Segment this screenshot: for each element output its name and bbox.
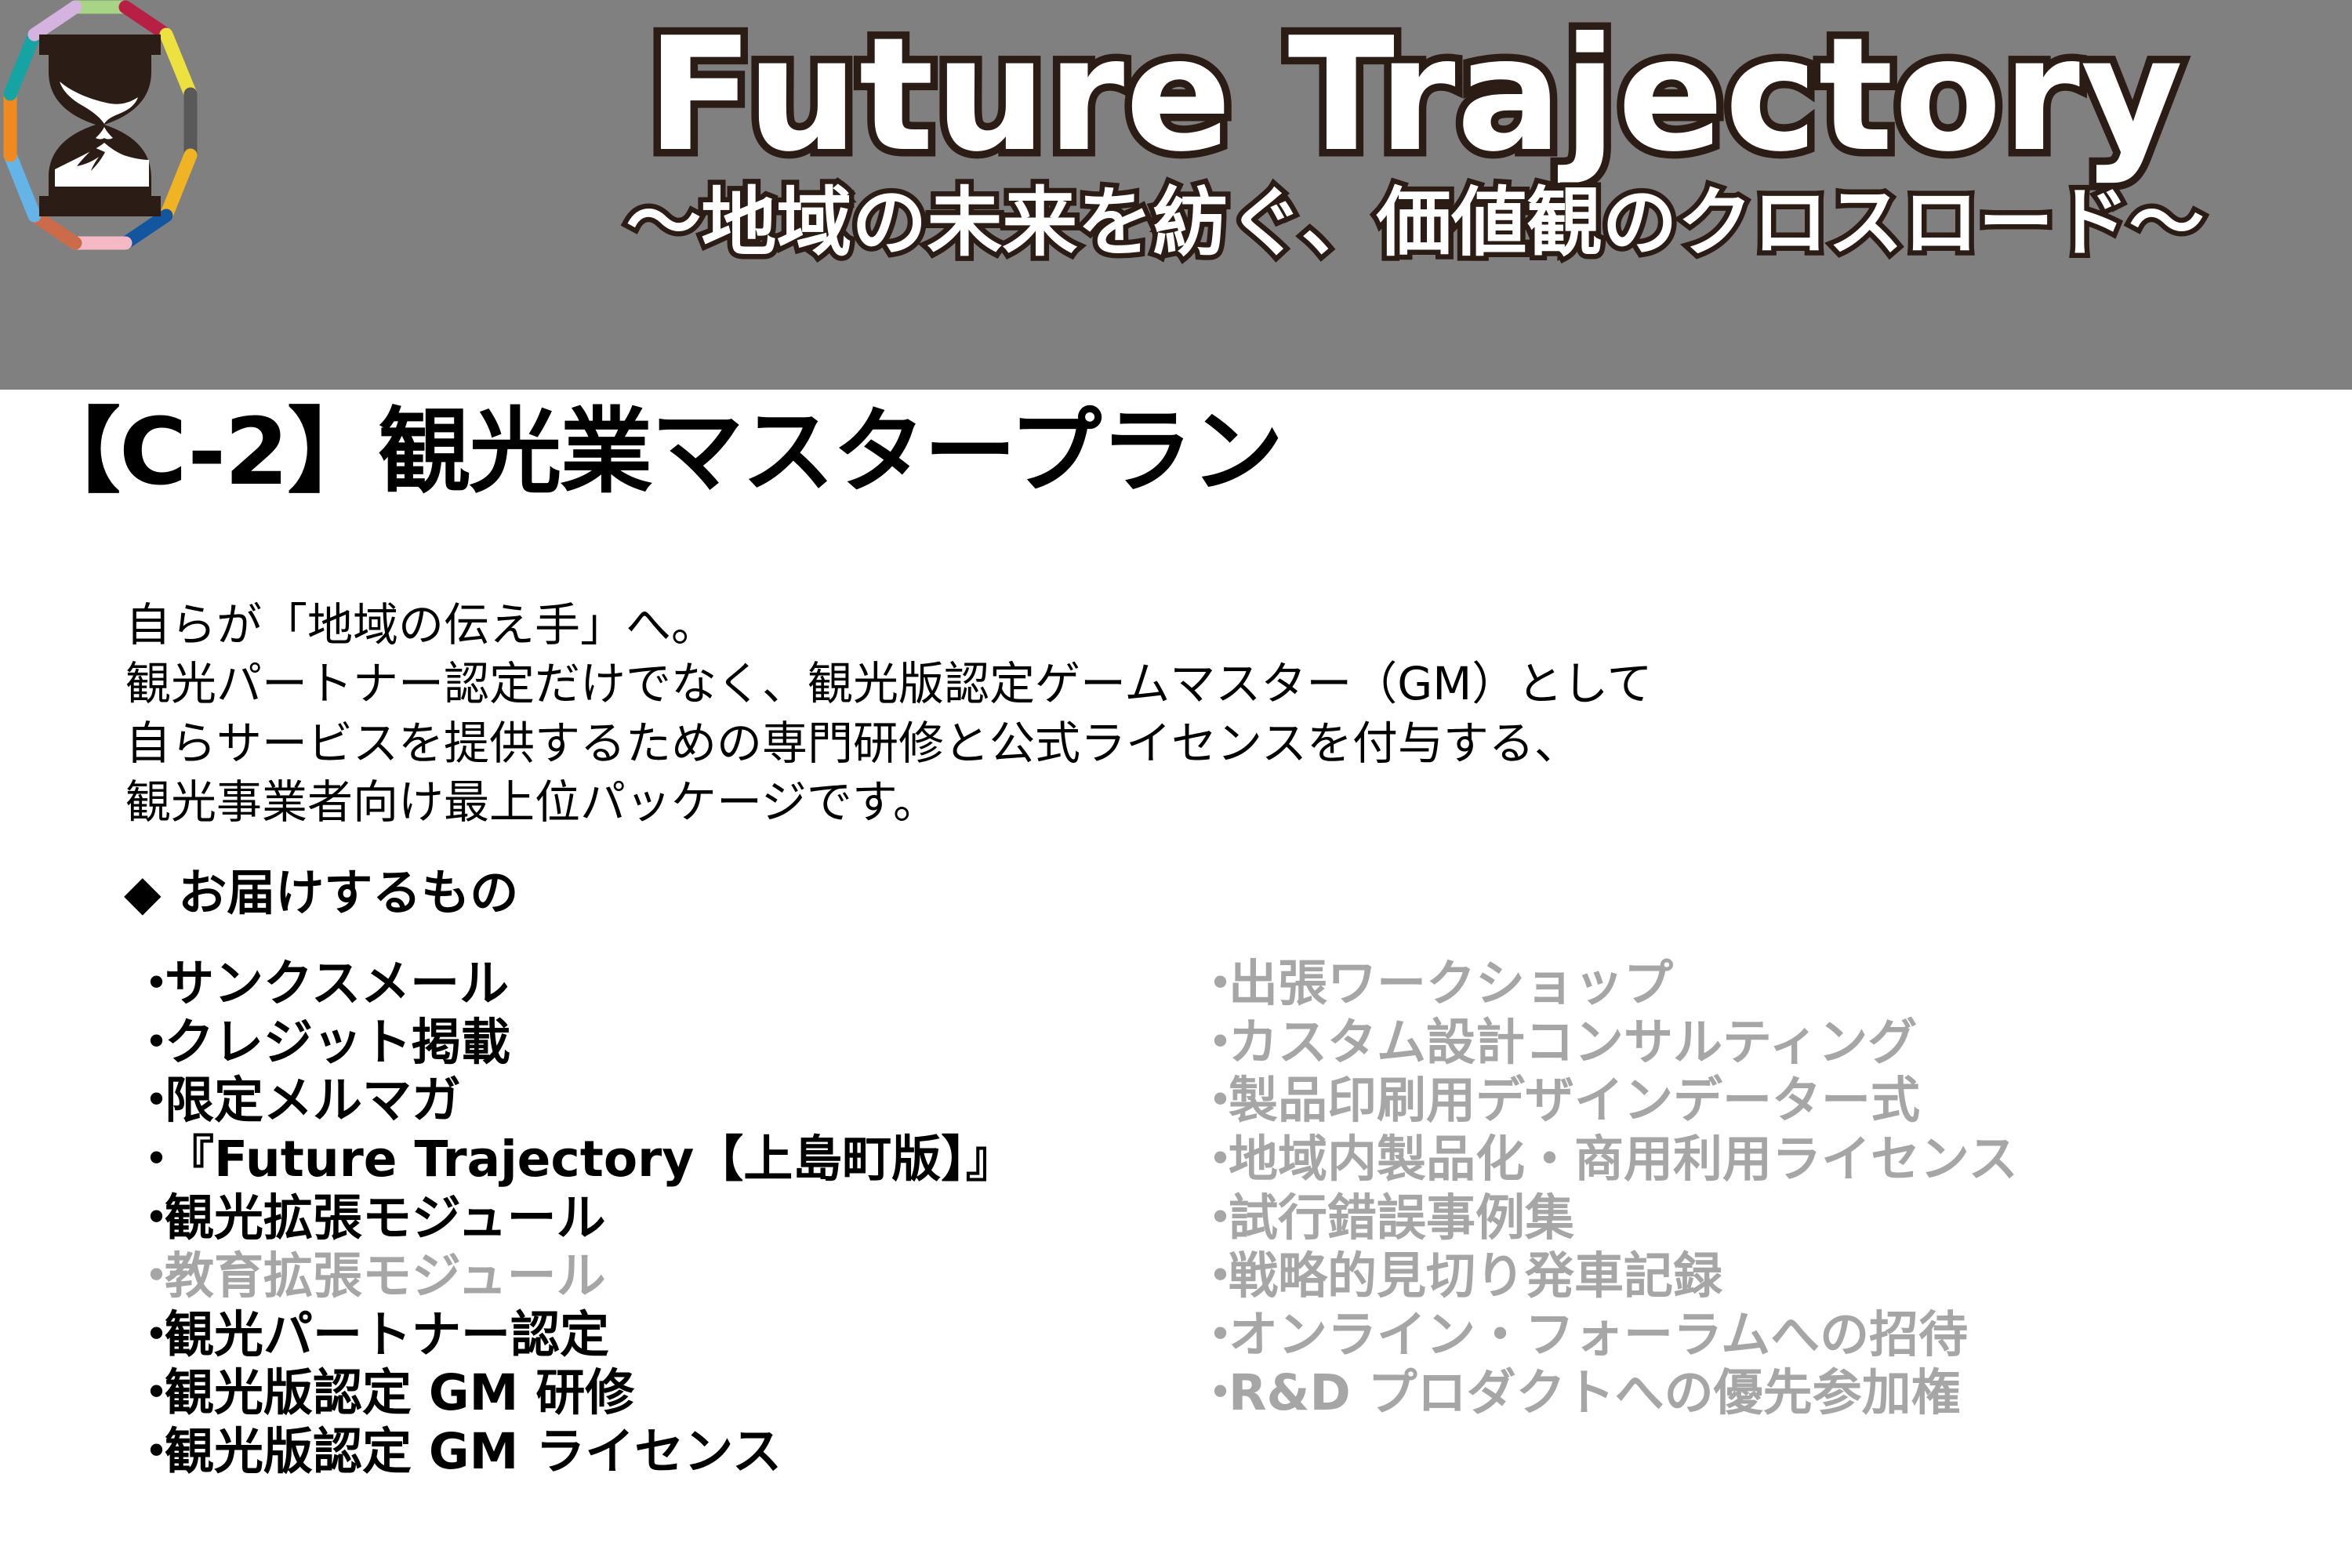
deliverable-item: ・地域内製品化・商用利用ライセンス: [1196, 1131, 2332, 1189]
deliverable-item: ・出張ワークショップ: [1196, 955, 2332, 1014]
bullet-dot-icon: ・: [132, 1247, 165, 1306]
bullet-dot-icon: ・: [132, 1189, 165, 1248]
deliverable-item: ・戦略的見切り発車記録: [1196, 1247, 2332, 1306]
deliverable-label: 戦略的見切り発車記録: [1229, 1247, 1722, 1305]
deliverable-item: ・オンライン・フォーラムへの招待: [1196, 1306, 2332, 1365]
deliverable-label: 地域内製品化・商用利用ライセンス: [1229, 1131, 2018, 1188]
deliverable-label: 観光版認定 GM 研修: [165, 1364, 634, 1421]
deliverable-item: ・観光版認定 GM ライセンス: [132, 1423, 1214, 1482]
lede-line: 観光事業者向け最上位パッケージです。: [125, 773, 2242, 832]
lede-line: 観光パートナー認定だけでなく、観光版認定ゲームマスター（GM）として: [125, 655, 2242, 713]
deliverable-label: サンクスメール: [165, 955, 509, 1012]
bullet-dot-icon: ・: [1196, 1306, 1229, 1365]
deliverable-item: ・限定メルマガ: [132, 1072, 1214, 1131]
header-band: Future Trajectory 〜地域の未来を紡ぐ、価値観のクロスロード〜: [0, 0, 2352, 390]
lede-line: 自らが「地域の伝え手」へ。: [125, 596, 2242, 655]
deliverable-label: オンライン・フォーラムへの招待: [1229, 1306, 1968, 1363]
bullet-dot-icon: ・: [1196, 1189, 1229, 1248]
deliverable-item: ・観光版認定 GM 研修: [132, 1364, 1214, 1423]
bullet-dot-icon: ・: [132, 1131, 165, 1189]
lede-line: 自らサービスを提供するための専門研修と公式ライセンスを付与する、: [125, 714, 2242, 773]
deliverable-label: 限定メルマガ: [165, 1072, 461, 1129]
deliverable-label: 観光パートナー認定: [165, 1306, 609, 1363]
deliverable-item: ・教育拡張モジュール: [132, 1247, 1214, 1306]
deliverable-label: 出張ワークショップ: [1229, 955, 1673, 1012]
page-title: 【C-2】観光業マスタープラン: [28, 405, 1282, 498]
bullet-dot-icon: ・: [132, 1072, 165, 1131]
brand-subtitle: 〜地域の未来を紡ぐ、価値観のクロスロード〜: [626, 185, 2204, 260]
bullet-dot-icon: ・: [1196, 1072, 1229, 1131]
deliverables-left-column: ・サンクスメール・クレジット掲載・限定メルマガ・『Future Trajecto…: [132, 955, 1214, 1482]
deliverable-item: ・観光拡張モジュール: [132, 1189, 1214, 1248]
deliverable-item: ・製品印刷用デザインデーター式: [1196, 1072, 2332, 1131]
deliverable-label: 製品印刷用デザインデーター式: [1229, 1072, 1920, 1129]
deliverable-item: ・R&D プロダクトへの優先参加権: [1196, 1364, 2332, 1423]
deliverable-label: 観光版認定 GM ライセンス: [165, 1423, 782, 1480]
bullet-dot-icon: ・: [1196, 1131, 1229, 1189]
bullet-dot-icon: ・: [1196, 1364, 1229, 1423]
deliverable-label: カスタム設計コンサルティング: [1229, 1014, 1917, 1071]
deliverable-item: ・『Future Trajectory【上島町版】』: [132, 1131, 1214, 1189]
deliverable-label: 観光拡張モジュール: [165, 1189, 606, 1247]
deliverable-label: R&D プロダクトへの優先参加権: [1229, 1364, 1961, 1421]
deliverable-item: ・カスタム設計コンサルティング: [1196, 1014, 2332, 1073]
deliverable-item: ・試行錯誤事例集: [1196, 1189, 2332, 1248]
deliverable-label: 試行錯誤事例集: [1229, 1189, 1574, 1247]
bullet-dot-icon: ・: [1196, 1014, 1229, 1073]
bullet-dot-icon: ・: [1196, 955, 1229, 1014]
bullet-dot-icon: ・: [132, 1364, 165, 1423]
brand-logo: [0, 0, 274, 386]
deliverable-label: 『Future Trajectory【上島町版】』: [165, 1131, 1015, 1188]
bullet-dot-icon: ・: [132, 1423, 165, 1482]
deliverables-right-column: ・出張ワークショップ・カスタム設計コンサルティング・製品印刷用デザインデーター式…: [1196, 955, 2332, 1423]
deliverable-item: ・クレジット掲載: [132, 1014, 1214, 1073]
deliverable-item: ・サンクスメール: [132, 955, 1214, 1014]
deliverable-item: ・観光パートナー認定: [132, 1306, 1214, 1365]
bullet-dot-icon: ・: [132, 1306, 165, 1365]
brand-text-block: Future Trajectory 〜地域の未来を紡ぐ、価値観のクロスロード〜: [502, 0, 2328, 390]
hourglass-icon: [39, 34, 161, 216]
deliverables-section-heading: ◆ お届けするもの: [124, 869, 518, 917]
bullet-dot-icon: ・: [1196, 1247, 1229, 1306]
lede-paragraph: 自らが「地域の伝え手」へ。 観光パートナー認定だけでなく、観光版認定ゲームマスタ…: [125, 596, 2242, 833]
deliverable-label: クレジット掲載: [165, 1014, 510, 1071]
bullet-dot-icon: ・: [132, 1014, 165, 1073]
bullet-dot-icon: ・: [132, 955, 165, 1014]
brand-title: Future Trajectory: [647, 17, 2184, 174]
deliverable-label: 教育拡張モジュール: [165, 1247, 606, 1305]
